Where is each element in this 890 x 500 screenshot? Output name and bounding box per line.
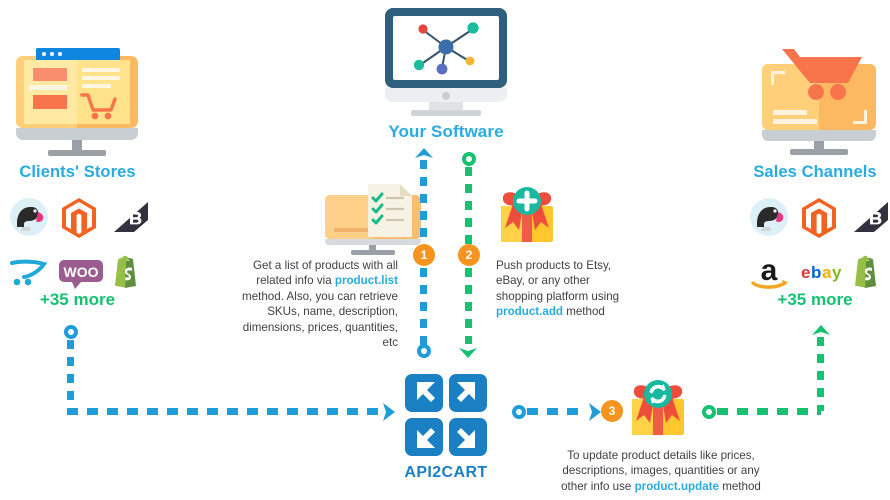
connector-2-arrowhead-down: [459, 344, 477, 358]
connector-left-dash-vertical: [67, 340, 74, 408]
connector-1-endpoint: [417, 344, 431, 358]
brand-label: API2CART: [386, 464, 506, 482]
connector-right-endpoint: [702, 405, 716, 419]
connector-1-dash-upper: [420, 160, 427, 244]
shopping-cart-icon: [776, 44, 868, 106]
connector-3-dash: [527, 408, 587, 415]
connector-right-dash-vertical: [817, 337, 824, 411]
connector-3-arrowhead-right: [585, 403, 601, 421]
platform-icon-prestashop[interactable]: [748, 196, 790, 238]
step-1-line-1: Get a list of products with all: [253, 259, 398, 272]
connector-left-arrowhead-right: [379, 403, 395, 421]
connector-right-dash-horizontal: [717, 408, 821, 415]
step-1-badge: 1: [413, 244, 435, 266]
step-2-badge: 2: [458, 244, 480, 266]
platform-icon-bigcommerce[interactable]: [848, 196, 890, 238]
connector-3-endpoint: [512, 405, 526, 419]
step-2-method: product.add: [496, 305, 563, 318]
column-title-left: Clients' Stores: [0, 163, 155, 182]
column-title-center: Your Software: [360, 122, 532, 142]
step-3-line-3a: other info use: [561, 480, 634, 493]
platform-grid-right: a e b a y: [748, 192, 888, 297]
step-2-line-4b: method: [563, 305, 605, 318]
svg-text:WOO: WOO: [64, 264, 99, 280]
shopping-cart-icon: [80, 92, 120, 122]
column-title-right: Sales Channels: [740, 163, 890, 182]
platform-icon-woocommerce[interactable]: WOO: [58, 251, 100, 293]
gift-sync-icon: [620, 373, 696, 449]
platform-icon-bigcommerce[interactable]: [108, 196, 150, 238]
connector-left-endpoint: [64, 325, 78, 339]
step-3-description: To update product details like prices, d…: [548, 448, 774, 494]
svg-text:b: b: [811, 263, 821, 282]
platform-icon-shopify[interactable]: [848, 251, 890, 293]
step-3-line-2: descriptions, images, quantities or any: [562, 464, 759, 477]
monitor-checklist-icon: [325, 183, 427, 255]
platform-icon-shopify[interactable]: [108, 251, 150, 293]
diagram-canvas: Clients' Stores: [0, 0, 890, 500]
storefront-monitor-icon: [16, 36, 138, 154]
cart-monitor-icon: [758, 36, 880, 154]
step-1-line-5: dimensions, prices, quantities, etc: [243, 321, 398, 349]
svg-text:y: y: [832, 263, 842, 282]
platform-icon-amazon[interactable]: a: [748, 251, 790, 293]
network-monitor-icon: [385, 8, 507, 118]
platform-icon-ebay[interactable]: e b a y: [798, 251, 840, 293]
step-2-description: Push products to Etsy, eBay, or any othe…: [496, 258, 646, 320]
more-label-right: +35 more: [740, 290, 890, 310]
platform-icon-opencart[interactable]: [8, 251, 50, 293]
step-3-line-1: To update product details like prices,: [567, 449, 755, 462]
more-label-left: +35 more: [0, 290, 155, 310]
step-3-method: product.update: [635, 480, 719, 493]
step-3-badge: 3: [601, 400, 623, 422]
network-graph-icon: [393, 16, 499, 80]
svg-text:e: e: [801, 263, 810, 282]
step-1-line-2a: related info via: [256, 274, 335, 287]
step-2-line-3: shopping platform using: [496, 290, 619, 303]
step-3-line-3c: method: [719, 480, 761, 493]
connector-2-dash-lower: [465, 268, 472, 344]
step-2-line-1: Push products to Etsy,: [496, 259, 611, 272]
step-1-method: product.list: [335, 274, 398, 287]
platform-icon-magento[interactable]: [58, 196, 100, 238]
step-2-line-2: eBay, or any other: [496, 274, 590, 287]
connector-left-dash-horizontal: [67, 408, 381, 415]
connector-2-dash-upper: [465, 167, 472, 244]
connector-right-arrowhead-up: [812, 325, 830, 339]
step-1-description: Get a list of products with all related …: [234, 258, 398, 350]
connector-2-endpoint: [462, 152, 476, 166]
svg-text:a: a: [761, 254, 778, 287]
platform-icon-magento[interactable]: [798, 196, 840, 238]
platform-grid-left: WOO: [8, 192, 148, 297]
step-1-line-3: method. Also, you can retrieve: [242, 290, 398, 303]
platform-icon-prestashop[interactable]: [8, 196, 50, 238]
gift-plus-icon: [489, 180, 565, 256]
api2cart-expand-logo: [403, 372, 489, 458]
connector-1-dash-lower: [420, 268, 427, 346]
checklist-document-icon: [366, 183, 414, 239]
step-1-line-4: SKUs, name, description,: [267, 305, 398, 318]
svg-text:a: a: [822, 263, 832, 282]
